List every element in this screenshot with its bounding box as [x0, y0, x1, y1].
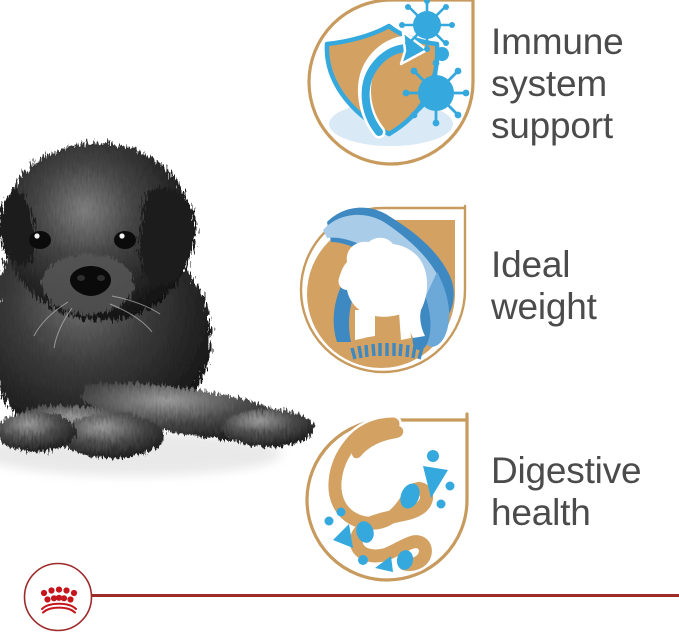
shield-virus-icon: [305, 0, 477, 172]
stomach-intestine-icon: [305, 404, 477, 580]
royal-canin-crown-logo: [22, 561, 94, 633]
benefit-row-ideal-weight: Ideal weight: [305, 198, 597, 374]
dog-measuring-tape-icon: [305, 198, 477, 374]
benefit-row-digestive-health: Digestive health: [305, 404, 641, 580]
benefit-label-immune-system-support: Immune system support: [491, 21, 623, 146]
benefit-row-immune-system-support: Immune system support: [305, 0, 623, 172]
benefit-label-digestive-health: Digestive health: [491, 450, 641, 534]
brand-divider-rule: [74, 594, 679, 597]
puppy-photo: [0, 136, 322, 536]
benefits-panel: Immune system support: [0, 0, 679, 644]
brand-footer: [0, 561, 679, 644]
benefit-label-ideal-weight: Ideal weight: [491, 244, 597, 328]
